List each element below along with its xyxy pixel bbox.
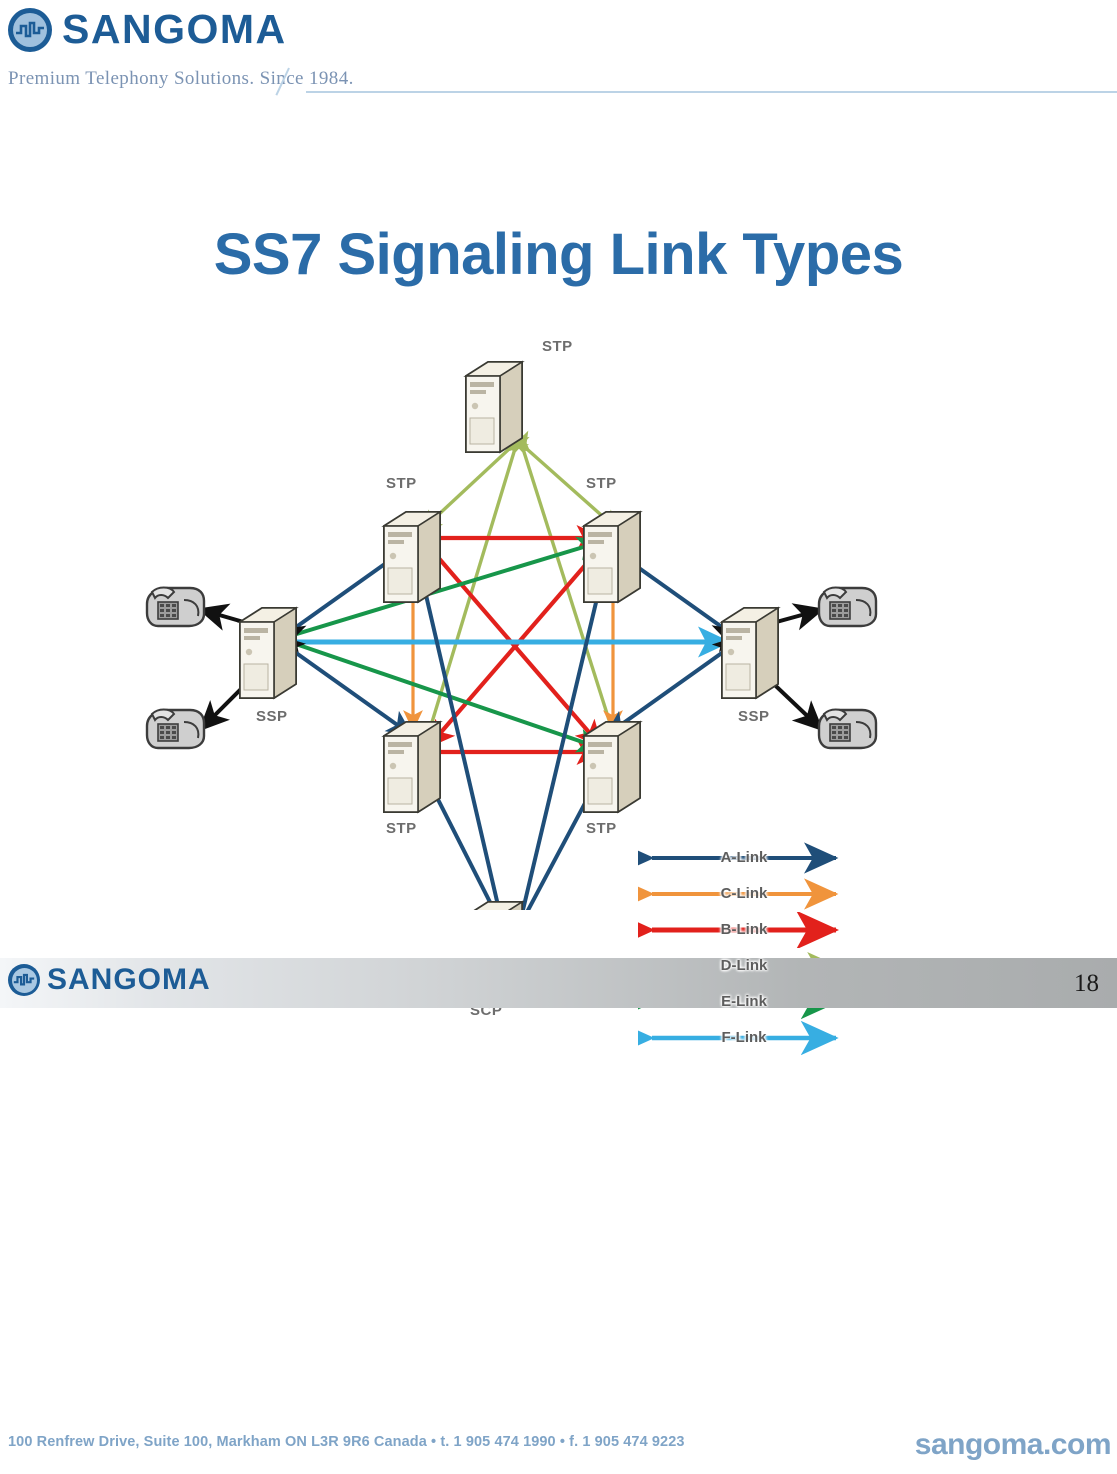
label-stp-lower-right: STP [586,820,617,837]
slide-footer-bar: SANGOMA 18 [0,958,1117,1008]
node-stp-upper-left[interactable] [384,512,440,602]
node-scp-bottom[interactable] [466,902,530,910]
diagram-canvas [130,290,890,910]
node-ssp-right[interactable] [722,608,778,698]
e-link-group [290,542,600,748]
label-ssp-right: SSP [738,708,770,725]
label-ssp-left: SSP [256,708,288,725]
sangoma-waveform-circle-icon [8,8,52,52]
legend-item-f-link: F-Link [638,1020,850,1056]
legend-label-a-link: A-Link [638,840,850,876]
sangoma-waveform-circle-icon [8,964,40,996]
company-address: 100 Renfrew Drive, Suite 100, Markham ON… [8,1434,685,1450]
header-tagline: Premium Telephony Solutions. Since 1984. [8,68,354,90]
node-ssp-left[interactable] [240,608,296,698]
label-stp-lower-left: STP [386,820,417,837]
node-stp-upper-right[interactable] [584,512,640,602]
footer-brand: SANGOMA [8,963,211,997]
header-brand: SANGOMA [8,6,287,53]
endpoint-phone-right-bottom[interactable] [819,710,876,749]
document-footer: 100 Renfrew Drive, Suite 100, Markham ON… [0,1424,1117,1474]
node-stp-top[interactable] [466,362,522,452]
page-header: SANGOMA Premium Telephony Solutions. Sin… [0,0,1117,105]
node-stp-lower-right[interactable] [584,722,640,812]
legend-label-f-link: F-Link [638,1020,850,1056]
legend-item-b-link: B-Link [638,912,850,948]
legend: A-Link C-Link [638,840,850,1056]
slide-body: SS7 Signaling Link Types [0,105,1117,955]
page-title: SS7 Signaling Link Types [0,221,1117,288]
legend-label-d-link: D-Link [638,948,850,984]
legend-item-d-link: D-Link [638,948,850,984]
legend-label-e-link: E-Link [638,984,850,1020]
header-divider [306,91,1117,93]
endpoint-phone-right-top[interactable] [819,588,876,627]
footer-brand-name: SANGOMA [47,963,211,997]
header-brand-name: SANGOMA [62,6,287,53]
label-stp-upper-right: STP [586,475,617,492]
label-stp-top: STP [542,338,573,355]
legend-item-a-link: A-Link [638,840,850,876]
company-website[interactable]: sangoma.com [915,1428,1111,1462]
legend-label-c-link: C-Link [638,876,850,912]
endpoint-phone-left-bottom[interactable] [147,710,204,749]
legend-item-e-link: E-Link [638,984,850,1020]
legend-item-c-link: C-Link [638,876,850,912]
node-stp-lower-left[interactable] [384,722,440,812]
legend-label-b-link: B-Link [638,912,850,948]
label-stp-upper-left: STP [386,475,417,492]
ss7-network-diagram: STP STP STP STP STP SSP SSP SCP [130,290,890,910]
page-number: 18 [1074,970,1099,998]
endpoint-phone-left-top[interactable] [147,588,204,627]
